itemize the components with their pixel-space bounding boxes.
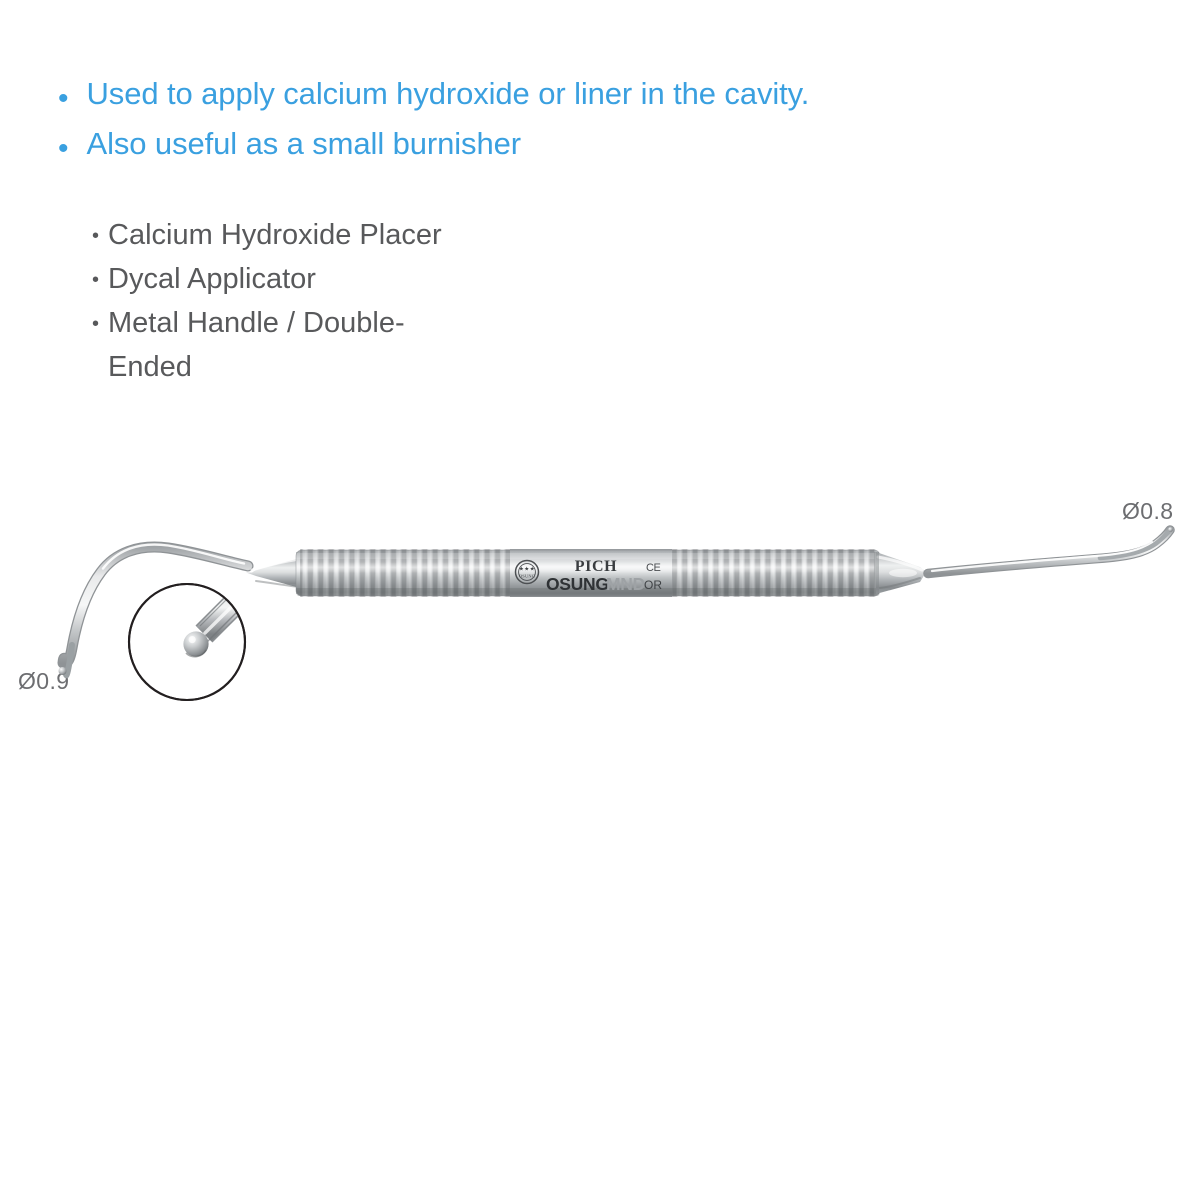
mark-ce-label: CE [646,562,660,574]
left-taper-cone [246,552,301,594]
tip-magnifier-circle [129,580,254,700]
feature-list: • Used to apply calcium hydroxide or lin… [58,74,1118,174]
product-illustration: ★★★ OSUNG PICH OSUNG MND CE OR [0,420,1200,750]
right-tip-end [1168,527,1173,532]
brand-mnd-label: MND [606,574,645,594]
feature-item-label: Also useful as a small burnisher [87,124,521,164]
spec-item: • Calcium Hydroxide Placer [92,213,732,257]
spec-item-label: Calcium Hydroxide Placer [108,213,442,257]
spec-item-label: Dycal Applicator [108,257,316,301]
spec-item: • Metal Handle / Double- Ended [92,301,732,389]
svg-text:★★★: ★★★ [519,566,535,573]
left-ball-tip [59,667,67,675]
svg-text:OSUNG: OSUNG [519,574,536,579]
mark-or-label: OR [644,578,662,592]
bullet-icon: • [58,134,69,164]
spec-item: • Dycal Applicator [92,257,732,301]
brand-osung-label: OSUNG [546,574,609,594]
osung-emblem-icon: ★★★ OSUNG [516,561,539,584]
bullet-icon: • [92,226,99,246]
bullet-icon: • [58,84,69,114]
feature-item: • Used to apply calcium hydroxide or lin… [58,74,1118,114]
bullet-icon: • [92,270,99,290]
feature-item-label: Used to apply calcium hydroxide or liner… [87,74,810,114]
brand-pich-label: PICH [575,558,617,575]
feature-item: • Also useful as a small burnisher [58,124,1118,164]
spec-item-label: Metal Handle / Double- Ended [108,301,405,389]
right-working-end [928,527,1173,573]
spec-list: • Calcium Hydroxide Placer • Dycal Appli… [92,213,732,389]
right-taper-cone [874,552,930,594]
bullet-icon: • [92,314,99,334]
